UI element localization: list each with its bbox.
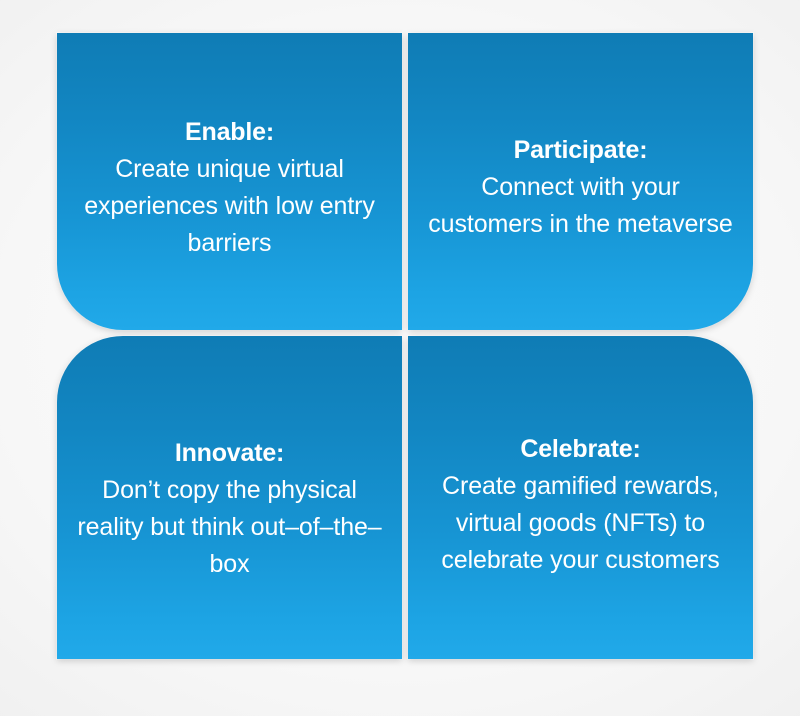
quadrant-card-enable[interactable]: Enable: Create unique virtual experience… [57, 33, 402, 330]
quadrant-title-innovate: Innovate: [71, 435, 388, 472]
quadrant-card-innovate[interactable]: Innovate: Don’t copy the physical realit… [57, 336, 402, 659]
quadrant-matrix: Enable: Create unique virtual experience… [57, 33, 753, 659]
quadrant-title-enable: Enable: [71, 114, 388, 151]
quadrant-text-innovate: Innovate: Don’t copy the physical realit… [57, 435, 402, 583]
quadrant-body-participate: Connect with your customers in the metav… [422, 169, 739, 243]
quadrant-body-celebrate: Create gamified rewards, virtual goods (… [422, 468, 739, 579]
quadrant-body-innovate: Don’t copy the physical reality but thin… [71, 472, 388, 583]
quadrant-card-celebrate[interactable]: Celebrate: Create gamified rewards, virt… [408, 336, 753, 659]
quadrant-card-participate[interactable]: Participate: Connect with your customers… [408, 33, 753, 330]
quadrant-title-participate: Participate: [422, 132, 739, 169]
quadrant-body-enable: Create unique virtual experiences with l… [71, 151, 388, 262]
quadrant-text-participate: Participate: Connect with your customers… [408, 132, 753, 243]
infographic-canvas: Enable: Create unique virtual experience… [0, 0, 800, 716]
quadrant-text-celebrate: Celebrate: Create gamified rewards, virt… [408, 431, 753, 579]
quadrant-text-enable: Enable: Create unique virtual experience… [57, 114, 402, 262]
quadrant-title-celebrate: Celebrate: [422, 431, 739, 468]
